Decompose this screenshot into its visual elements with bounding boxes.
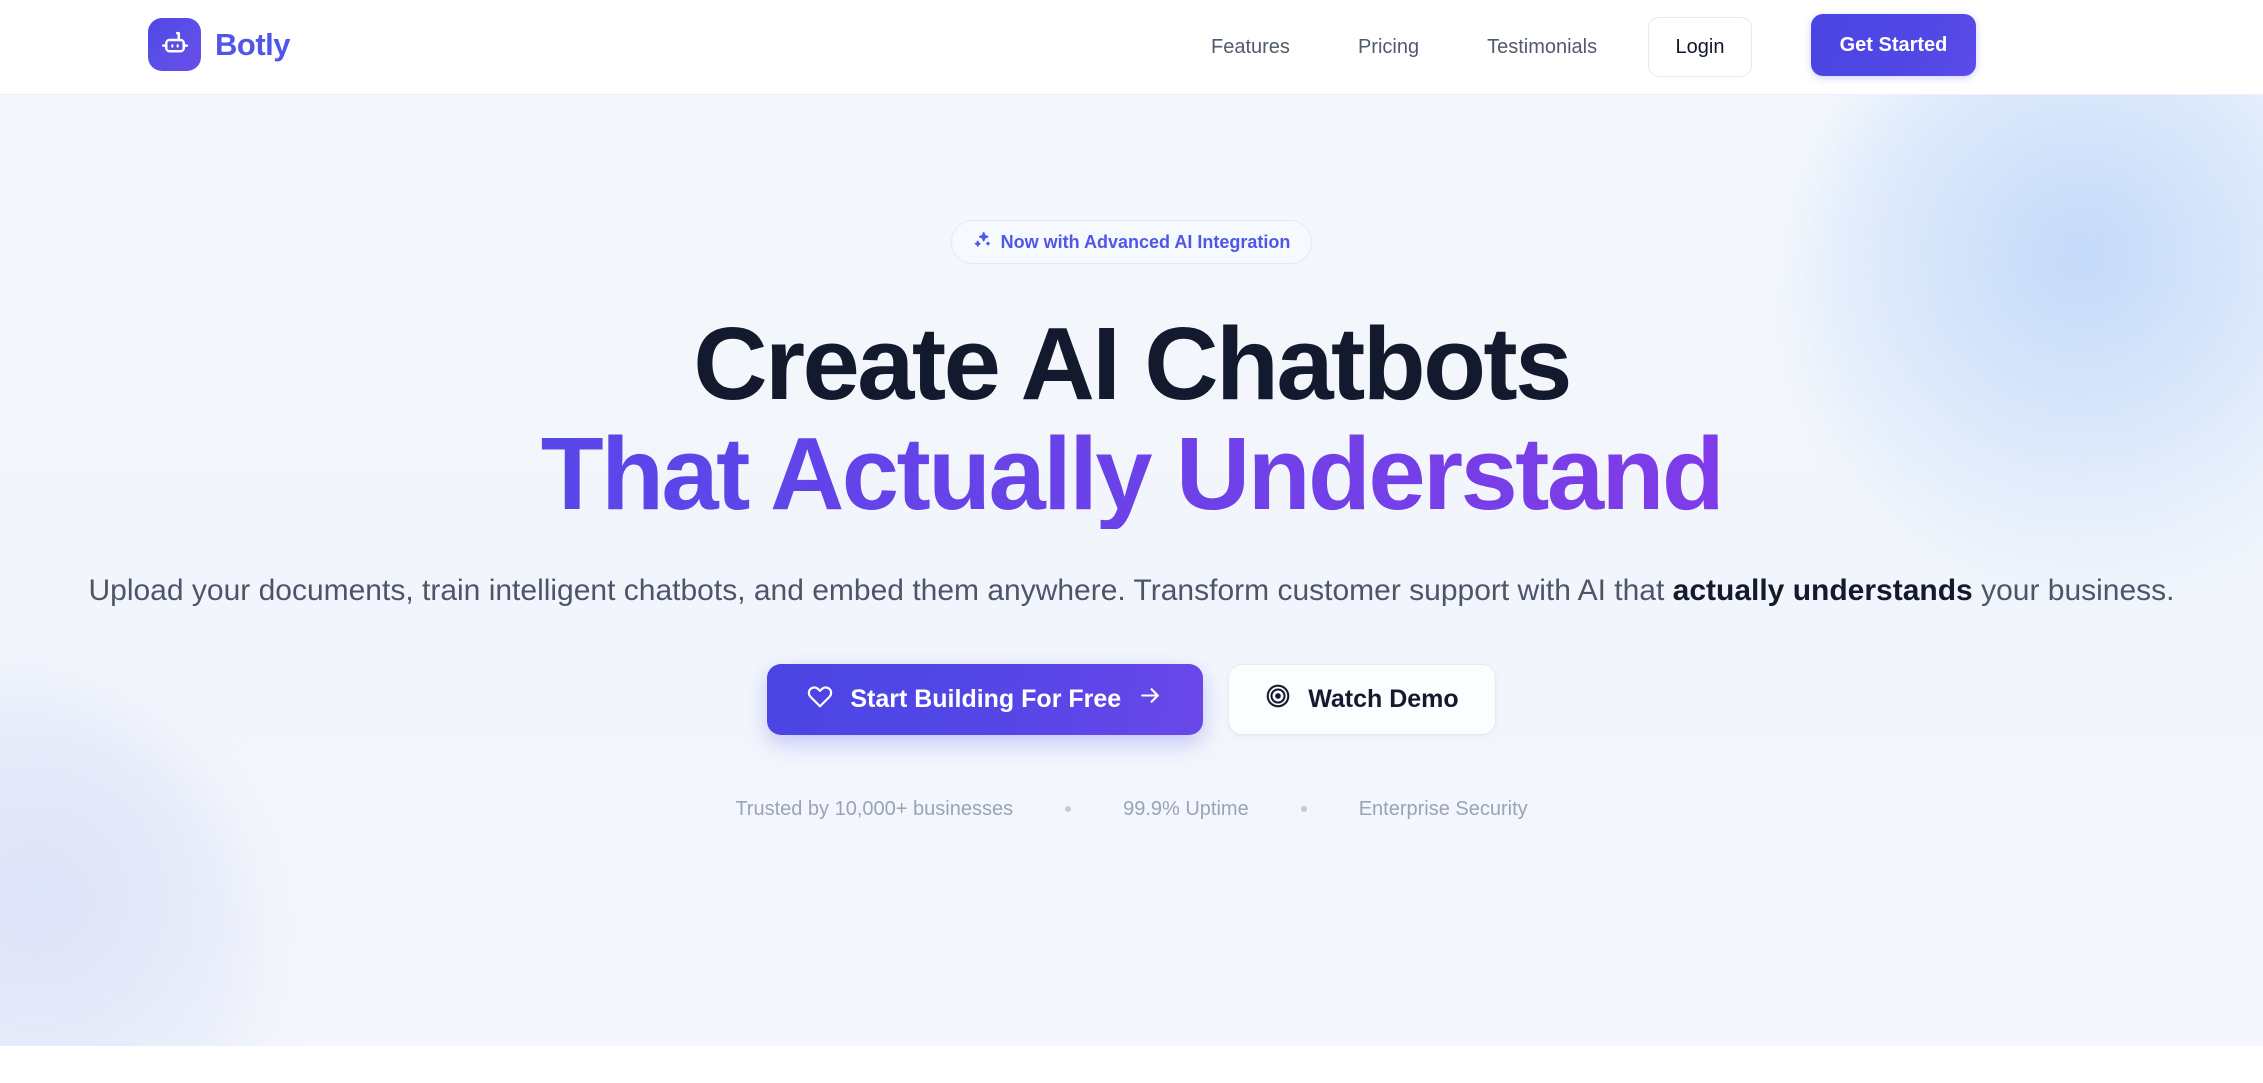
trust-bar: Trusted by 10,000+ businesses 99.9% Upti…	[0, 798, 2263, 821]
trust-item-security: Enterprise Security	[1359, 798, 1528, 821]
sparkles-icon	[973, 230, 992, 254]
hero-subtitle-part1: Upload your documents, train intelligent…	[88, 574, 1672, 607]
trust-separator-dot	[1301, 806, 1307, 812]
heart-icon	[807, 683, 833, 716]
site-header: Botly Features Pricing Testimonials Logi…	[0, 0, 2263, 95]
get-started-button[interactable]: Get Started	[1811, 14, 1976, 76]
hero-subtitle: Upload your documents, train intelligent…	[0, 569, 2263, 613]
hero-subtitle-part2: your business.	[1973, 574, 2175, 607]
announcement-badge-label: Now with Advanced AI Integration	[1001, 232, 1291, 253]
arrow-right-icon	[1138, 683, 1163, 715]
robot-icon	[148, 18, 201, 71]
login-button[interactable]: Login	[1648, 17, 1752, 77]
main-nav: Features Pricing Testimonials	[1177, 0, 1631, 95]
start-building-button[interactable]: Start Building For Free	[767, 664, 1203, 735]
start-building-button-label: Start Building For Free	[850, 685, 1121, 714]
hero-subtitle-emphasis: actually understands	[1673, 574, 1973, 607]
cta-row: Start Building For Free Watch De	[0, 664, 2263, 735]
target-icon	[1265, 683, 1291, 716]
trust-separator-dot	[1065, 806, 1071, 812]
nav-link-testimonials[interactable]: Testimonials	[1453, 36, 1631, 59]
nav-link-features[interactable]: Features	[1177, 36, 1324, 59]
watch-demo-button-label: Watch Demo	[1308, 685, 1458, 714]
hero-section: Now with Advanced AI Integration Create …	[0, 95, 2263, 1046]
watch-demo-button[interactable]: Watch Demo	[1228, 664, 1495, 735]
nav-link-pricing[interactable]: Pricing	[1324, 36, 1453, 59]
trust-item-uptime: 99.9% Uptime	[1123, 798, 1249, 821]
trust-item-businesses: Trusted by 10,000+ businesses	[735, 798, 1013, 821]
below-fold-spacer	[0, 1046, 2263, 1083]
page-title: Create AI Chatbots That Actually Underst…	[0, 309, 2263, 529]
brand-logo[interactable]: Botly	[148, 18, 290, 71]
brand-name: Botly	[215, 27, 290, 63]
headline-line-1: Create AI Chatbots	[693, 306, 1570, 421]
announcement-badge[interactable]: Now with Advanced AI Integration	[951, 220, 1313, 264]
headline-line-2: That Actually Understand	[0, 419, 2263, 529]
